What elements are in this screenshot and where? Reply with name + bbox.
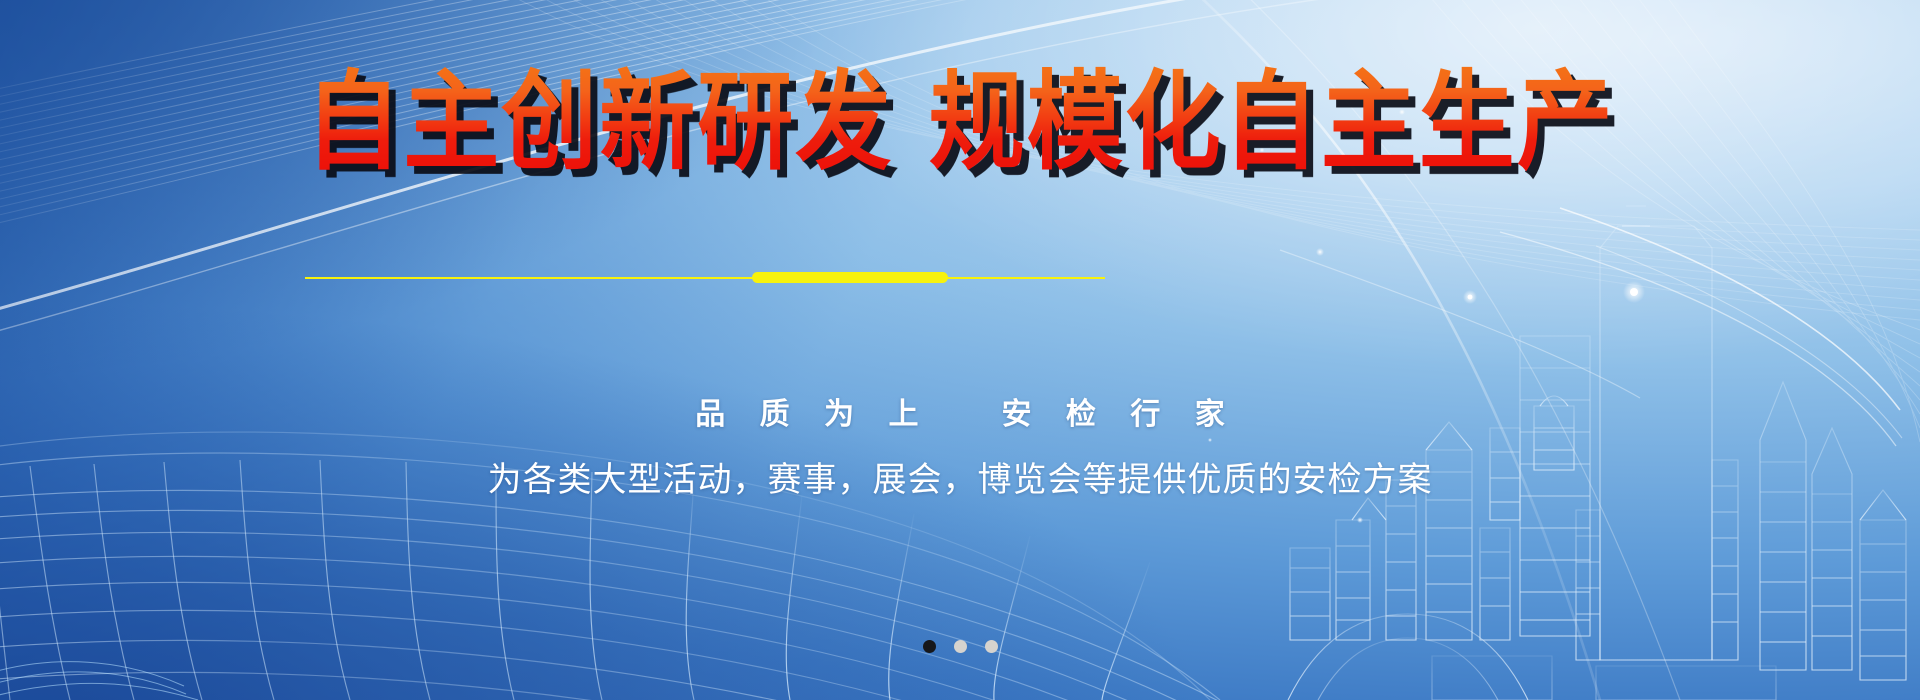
divider-thick-bar	[752, 272, 948, 283]
carousel-dot-1[interactable]	[923, 640, 936, 653]
banner-content: 自主创新研发 规模化自主生产 品 质 为 上 安 检 行 家 为各类大型活动，赛…	[0, 0, 1920, 700]
divider	[0, 271, 1920, 285]
carousel-indicators[interactable]	[0, 640, 1920, 653]
divider-thin-line	[305, 277, 1105, 279]
hero-banner: 自主创新研发 规模化自主生产 品 质 为 上 安 检 行 家 为各类大型活动，赛…	[0, 0, 1920, 700]
page-title: 自主创新研发 规模化自主生产	[0, 66, 1920, 179]
carousel-dot-3[interactable]	[985, 640, 998, 653]
subtitle-primary-right: 安 检 行 家	[1001, 397, 1236, 432]
subtitle-secondary: 为各类大型活动，赛事，展会，博览会等提供优质的安检方案	[0, 452, 1920, 501]
carousel-dot-2[interactable]	[954, 640, 967, 653]
subtitle-primary-left: 品 质 为 上	[695, 397, 930, 432]
subtitle-primary: 品 质 为 上 安 检 行 家	[0, 389, 1920, 433]
